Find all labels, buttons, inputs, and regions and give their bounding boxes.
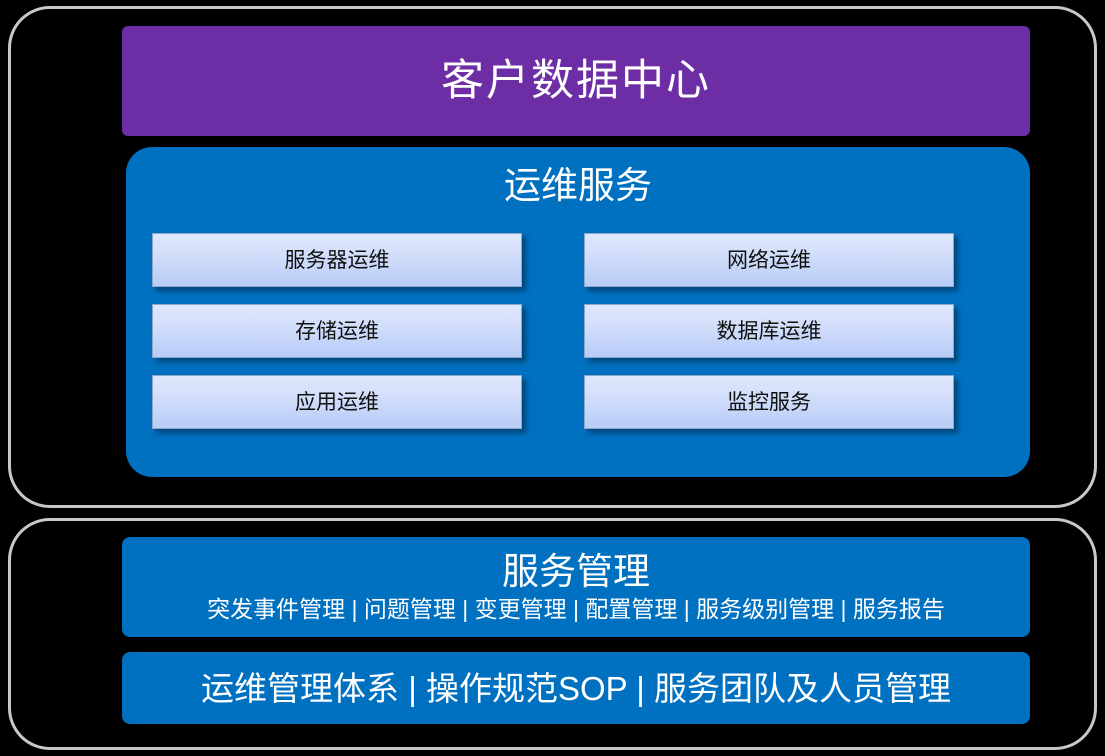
tile-label: 服务器运维 <box>285 250 390 271</box>
tile-label: 存储运维 <box>295 321 379 342</box>
tile-label: 应用运维 <box>295 392 379 413</box>
tile-application-ops[interactable]: 应用运维 <box>152 375 522 429</box>
foundation-bar: 运维管理体系 | 操作规范SOP | 服务团队及人员管理 <box>122 652 1030 724</box>
foundation-items: 运维管理体系 | 操作规范SOP | 服务团队及人员管理 <box>201 672 951 705</box>
service-management-bar: 服务管理 突发事件管理 | 问题管理 | 变更管理 | 配置管理 | 服务级别管… <box>122 537 1030 637</box>
tile-label: 数据库运维 <box>717 321 822 342</box>
tile-monitoring-service[interactable]: 监控服务 <box>584 375 954 429</box>
operations-service-title: 运维服务 <box>126 167 1030 204</box>
tile-database-ops[interactable]: 数据库运维 <box>584 304 954 358</box>
operations-service-panel: 运维服务 服务器运维 网络运维 存储运维 数据库运维 应用运维 监控服务 <box>126 147 1030 477</box>
tile-storage-ops[interactable]: 存储运维 <box>152 304 522 358</box>
tile-label: 网络运维 <box>727 250 811 271</box>
data-center-banner: 客户数据中心 <box>122 26 1030 136</box>
data-center-title: 客户数据中心 <box>441 60 711 103</box>
tile-network-ops[interactable]: 网络运维 <box>584 233 954 287</box>
tile-server-ops[interactable]: 服务器运维 <box>152 233 522 287</box>
service-management-items: 突发事件管理 | 问题管理 | 变更管理 | 配置管理 | 服务级别管理 | 服… <box>207 598 945 621</box>
tile-label: 监控服务 <box>727 392 811 413</box>
service-management-title: 服务管理 <box>502 553 650 590</box>
operations-tile-grid: 服务器运维 网络运维 存储运维 数据库运维 应用运维 监控服务 <box>152 233 1004 429</box>
